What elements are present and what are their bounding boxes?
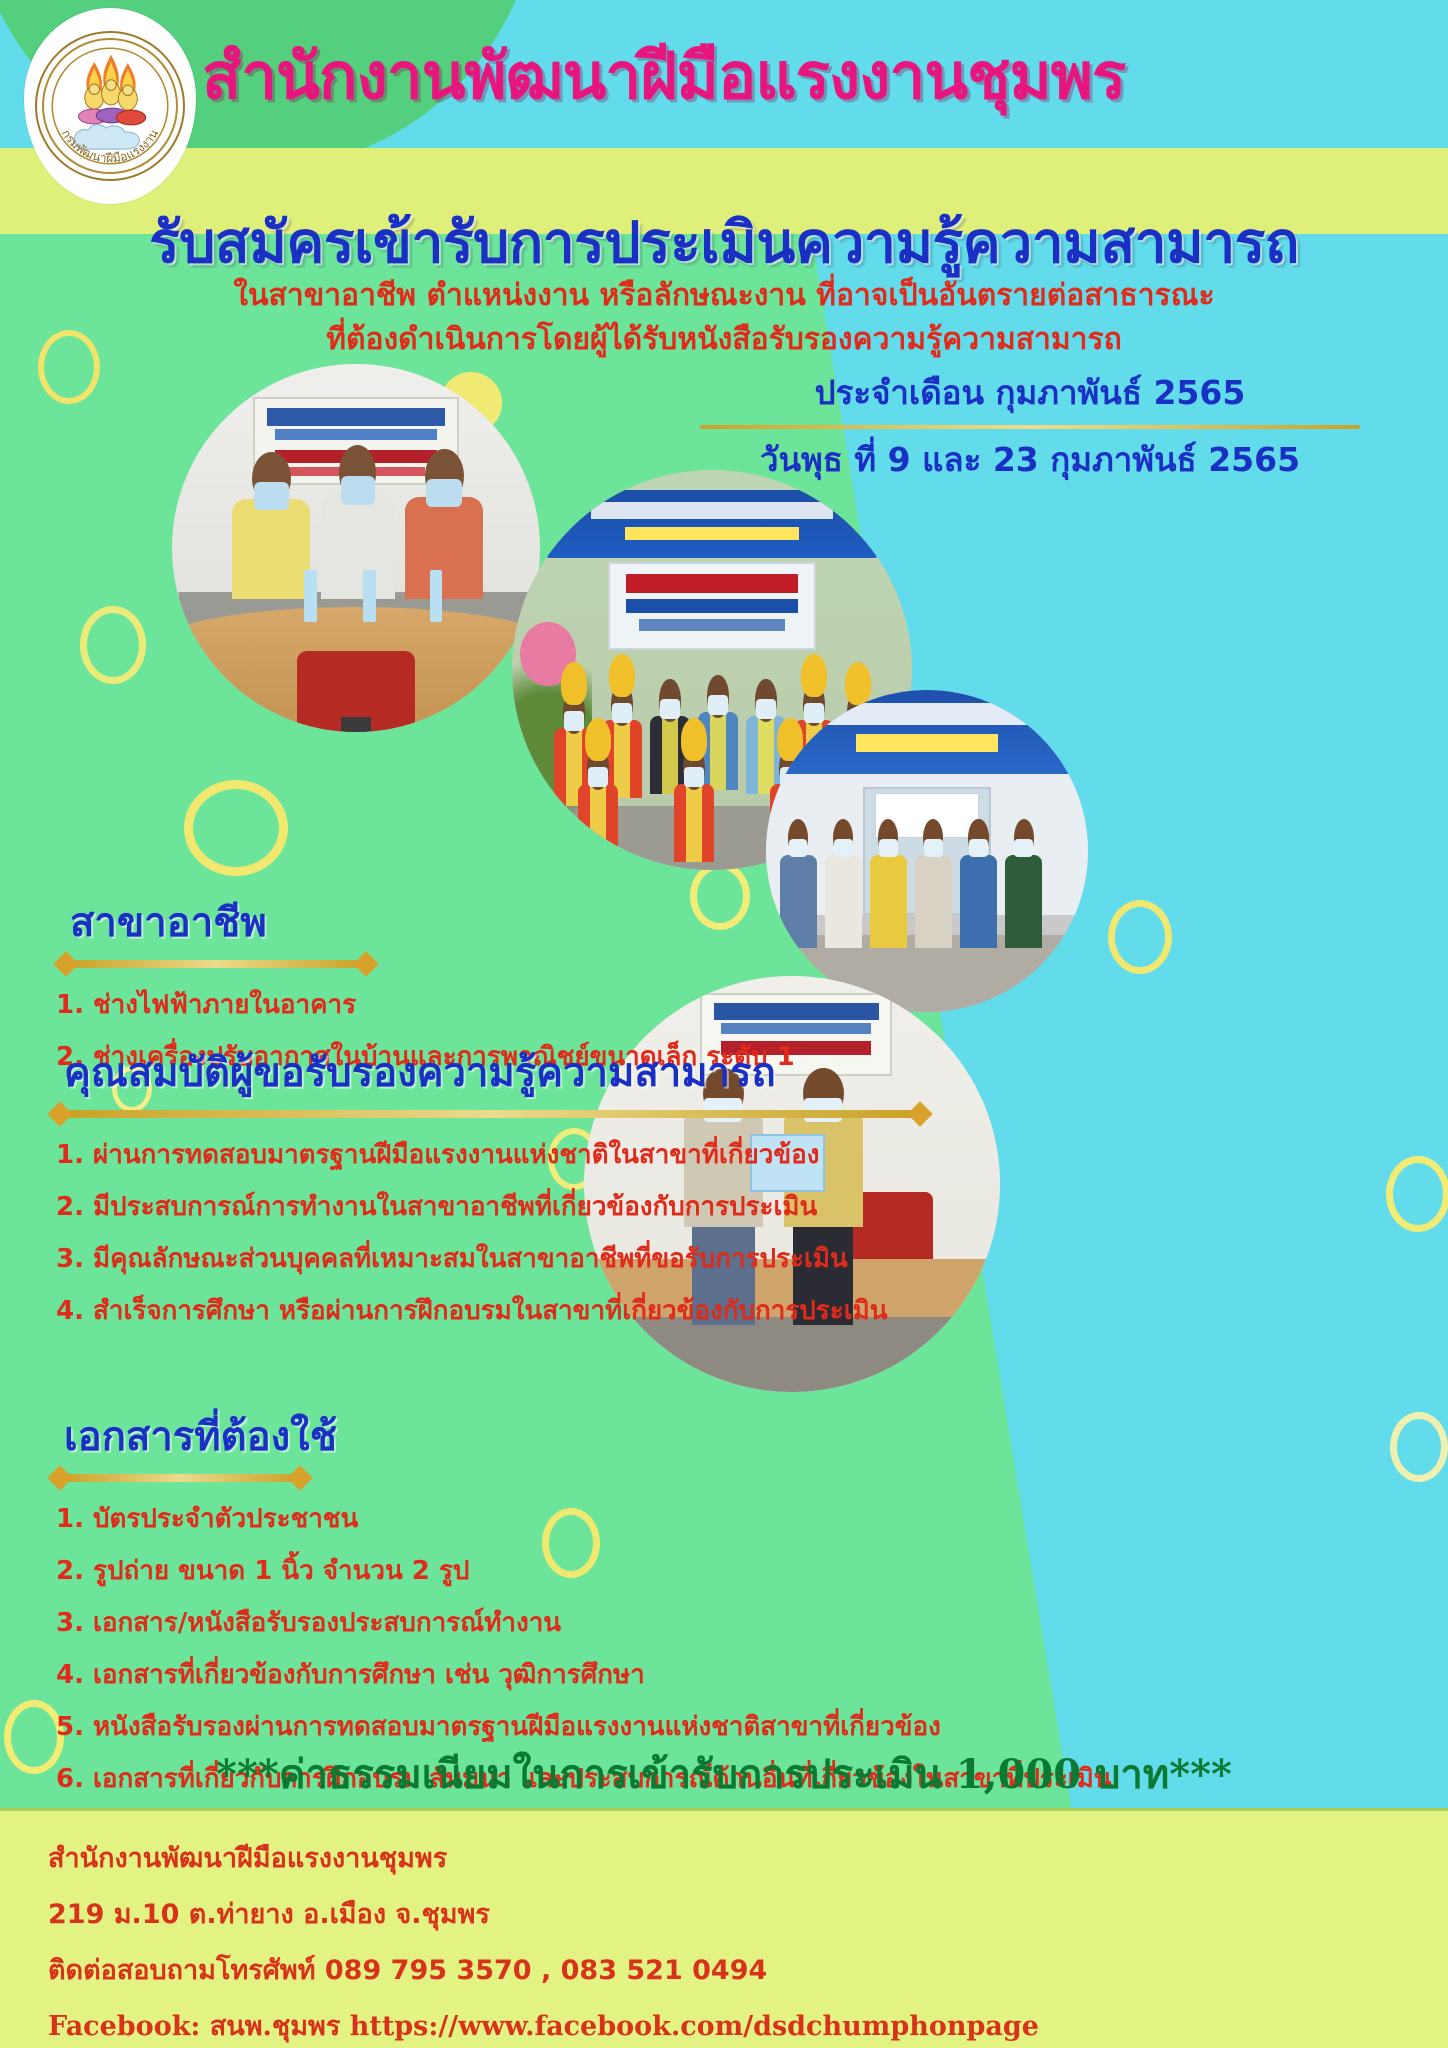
- section-divider: [66, 960, 366, 968]
- photo-person: [319, 445, 396, 600]
- list-item: 4. สำเร็จการศึกษา หรือผ่านการฝึกอบรมในสา…: [56, 1290, 936, 1331]
- section-heading: สาขาอาชีพ: [56, 890, 696, 954]
- photo-person-body: [321, 494, 395, 599]
- photo-person: [959, 819, 998, 948]
- face-mask-icon: [660, 699, 679, 719]
- section-divider: [60, 1110, 920, 1118]
- sign-line: [639, 619, 786, 631]
- photo-chair-base: [341, 717, 370, 732]
- photo-office-sign: [608, 562, 816, 650]
- photo-person-body: [870, 855, 907, 948]
- footer-facebook-link[interactable]: Facebook: สนพ.ชุมพร https://www.facebook…: [48, 2004, 1408, 2047]
- footer-office-name: สำนักงานพัฒนาฝีมือแรงงานชุมพร: [48, 1836, 1408, 1879]
- hard-hat-icon: [609, 654, 635, 697]
- face-mask-icon: [969, 839, 988, 857]
- logo-ring-text: กรมพัฒนาฝีมือแรงงาน: [37, 33, 183, 179]
- photo-meeting-room-content: [172, 364, 540, 732]
- announcement-subtitle-line1: ในสาขาอาชีพ ตำแหน่งงาน หรือลักษณะงาน ที่…: [0, 272, 1448, 319]
- logo-ring-label: กรมพัฒนาฝีมือแรงงาน: [59, 127, 162, 166]
- schedule-divider: [700, 425, 1360, 429]
- photo-person-body: [915, 855, 952, 948]
- photo-person-body: [960, 855, 997, 948]
- photo-dsd-service-center-banner: [766, 690, 1088, 774]
- face-mask-icon: [708, 695, 727, 715]
- safety-vest-icon: [674, 784, 714, 862]
- hard-hat-icon: [585, 718, 611, 761]
- section-heading: เอกสารที่ต้องใช้: [56, 1404, 1056, 1468]
- water-bottle-icon: [363, 570, 376, 622]
- list-item: 2. รูปถ่าย ขนาด 1 นิ้ว จำนวน 2 รูป: [56, 1550, 1056, 1591]
- photo-person: [869, 819, 908, 948]
- water-bottle-icon: [430, 570, 443, 622]
- photo-office-group-content: [766, 690, 1088, 1012]
- department-logo: กรมพัฒนาฝีมือแรงงาน: [24, 8, 196, 204]
- list-item: 4. เอกสารที่เกี่ยวข้องกับการศึกษา เช่น ว…: [56, 1654, 1056, 1695]
- hard-hat-icon: [561, 662, 587, 705]
- photo-person: [914, 819, 953, 948]
- face-mask-icon: [341, 476, 375, 505]
- face-mask-icon: [1014, 839, 1033, 857]
- face-mask-icon: [879, 839, 898, 857]
- list-item: 3. เอกสาร/หนังสือรับรองประสบการณ์ทำงาน: [56, 1602, 1056, 1643]
- page-title: สำนักงานพัฒนาฝีมือแรงงานชุมพร: [202, 44, 1432, 111]
- photo-dsd-service-center-banner: [544, 490, 880, 558]
- photo-person: [404, 449, 485, 600]
- photo-person: [824, 819, 863, 948]
- decorative-circle-icon: [1386, 1156, 1448, 1232]
- sign-line: [267, 408, 445, 427]
- photo-person-body: [780, 855, 817, 948]
- banner-line: [591, 502, 833, 518]
- schedule-month: ประจำเดือน กุมภาพันธ์ 2565: [680, 366, 1380, 419]
- decorative-circle-icon: [80, 606, 146, 684]
- decorative-circle-icon: [1108, 900, 1172, 974]
- list-item: 1. ช่างไฟฟ้าภายในอาคาร: [56, 984, 696, 1025]
- safety-vest-icon: [578, 784, 618, 862]
- decorative-circle-icon: [184, 780, 288, 876]
- photo-person: [576, 718, 620, 862]
- photo-person-body: [405, 497, 483, 600]
- sign-line: [275, 429, 437, 440]
- section-qualifications: คุณสมบัติผู้ขอรับรองความรู้ความสามารถ 1.…: [56, 1040, 936, 1342]
- list-item: 3. มีคุณลักษณะส่วนบุคคลที่เหมาะสมในสาขาอ…: [56, 1238, 936, 1279]
- photo-person-body: [825, 855, 862, 948]
- footer-phone: ติดต่อสอบถามโทรศัพท์ 089 795 3570 , 083 …: [48, 1948, 1408, 1991]
- face-mask-icon: [789, 839, 808, 857]
- sign-line: [626, 599, 797, 612]
- photo-person: [779, 819, 818, 948]
- decorative-circle-icon: [690, 862, 750, 930]
- section-divider: [60, 1474, 300, 1482]
- fee-notice: ***ค่าธรรมเนียมในการเข้ารับการประเมิน 1,…: [24, 1742, 1424, 1806]
- logo-seal-icon: กรมพัฒนาฝีมือแรงงาน: [35, 31, 185, 181]
- sign-line: [626, 574, 797, 592]
- footer-address: 219 ม.10 ต.ท่ายาง อ.เมือง จ.ชุมพร: [48, 1892, 1408, 1935]
- schedule-block: ประจำเดือน กุมภาพันธ์ 2565 วันพุธ ที่ 9 …: [680, 366, 1380, 486]
- photo-person-body: [1005, 855, 1042, 948]
- list-item: 1. ผ่านการทดสอบมาตรฐานฝีมือแรงงานแห่งชาต…: [56, 1134, 936, 1175]
- banner-line: [818, 703, 1037, 725]
- face-mask-icon: [254, 482, 290, 510]
- photo-office-group: [766, 690, 1088, 1012]
- photo-person: [1004, 819, 1043, 948]
- hard-hat-icon: [681, 718, 707, 761]
- face-mask-icon: [684, 767, 703, 787]
- face-mask-icon: [588, 767, 607, 787]
- qualification-list: 1. ผ่านการทดสอบมาตรฐานฝีมือแรงงานแห่งชาต…: [56, 1134, 936, 1331]
- photo-person-body: [232, 499, 310, 599]
- banner-line: [856, 734, 998, 752]
- announcement-subtitle-line2: ที่ต้องดำเนินการโดยผู้ได้รับหนังสือรับรอ…: [0, 316, 1448, 363]
- footer-contact-block: สำนักงานพัฒนาฝีมือแรงงานชุมพร 219 ม.10 ต…: [48, 1836, 1408, 2048]
- water-bottle-icon: [304, 570, 317, 622]
- face-mask-icon: [834, 839, 853, 857]
- list-item: 5. หนังสือรับรองผ่านการทดสอบมาตรฐานฝีมือ…: [56, 1706, 1056, 1747]
- photo-person: [672, 718, 716, 862]
- photo-meeting-room: [172, 364, 540, 732]
- sign-line: [721, 1023, 871, 1034]
- decorative-circle-icon: [1390, 1412, 1448, 1482]
- section-heading: คุณสมบัติผู้ขอรับรองความรู้ความสามารถ: [56, 1040, 936, 1104]
- list-item: 1. บัตรประจำตัวประชาชน: [56, 1498, 1056, 1539]
- list-item: 2. มีประสบการณ์การทำงานในสาขาอาชีพที่เกี…: [56, 1186, 936, 1227]
- poster-canvas: กรมพัฒนาฝีมือแรงงาน สำนักงานพัฒนาฝีมือแร…: [0, 0, 1448, 2048]
- face-mask-icon: [924, 839, 943, 857]
- face-mask-icon: [426, 479, 462, 508]
- banner-line: [625, 527, 800, 541]
- photo-person: [231, 452, 312, 599]
- sign-line: [714, 1003, 879, 1020]
